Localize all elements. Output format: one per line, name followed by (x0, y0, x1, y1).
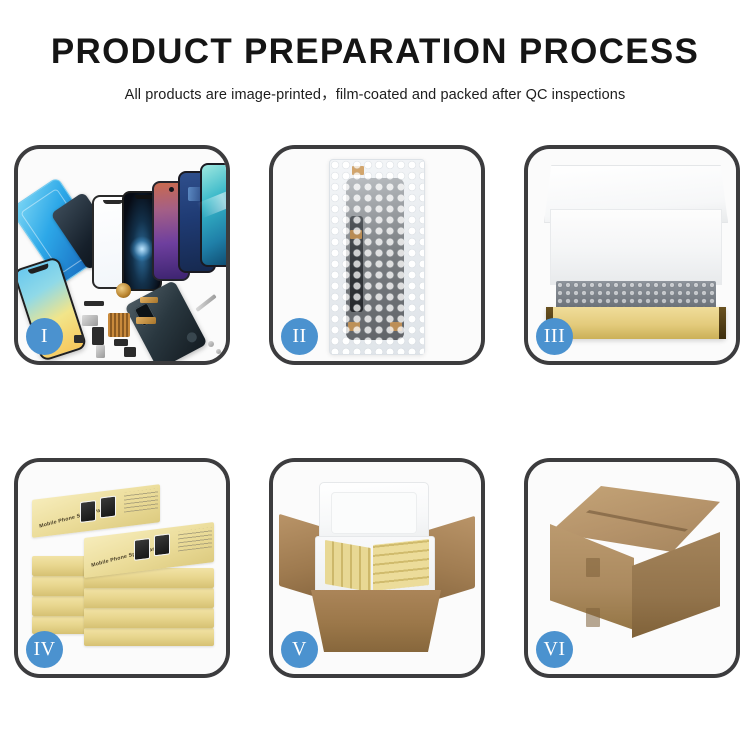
step-badge-4: IV (26, 631, 63, 668)
styrofoam-lid (319, 482, 429, 544)
part-logic-board (108, 313, 130, 337)
process-steps-grid: I II III (14, 145, 740, 678)
page-subtitle: All products are image-printed，film-coat… (0, 83, 750, 104)
tape-piece-top (352, 166, 364, 175)
yellow-box-base (546, 307, 726, 339)
step-card-5: V (269, 458, 485, 678)
tape-piece-lower-left (348, 322, 360, 331)
part-screw-1 (208, 341, 214, 347)
box-print-spec-lines-rear (124, 488, 158, 512)
step-card-4: Mobile Phone Spare Parts Mobile Phone Sp… (14, 458, 230, 678)
step-card-1: I (14, 145, 230, 365)
part-screw-2 (216, 349, 221, 354)
page-title: PRODUCT PREPARATION PROCESS (0, 34, 750, 71)
stacked-box-front-3 (84, 588, 214, 608)
part-speaker-coil (116, 283, 131, 298)
carton-tape-upper (586, 558, 600, 577)
part-screwdriver (195, 294, 216, 312)
stacked-box-front-1 (84, 628, 214, 646)
carton-tape-lower (586, 608, 600, 627)
box-print-label-rear: Mobile Phone Spare Parts (39, 506, 108, 530)
part-sim-tray (96, 345, 105, 358)
part-flex-cable-3 (136, 317, 156, 324)
step-badge-2: II (281, 318, 318, 355)
box-stack: Mobile Phone Spare Parts Mobile Phone Sp… (28, 484, 224, 660)
part-antenna-strip (84, 301, 104, 306)
box-print-phone-image-d (100, 496, 116, 519)
phone-teal-display (200, 163, 226, 267)
part-bracket-1 (82, 315, 98, 326)
step-badge-5: V (281, 631, 318, 668)
part-camera-module (114, 339, 128, 346)
box-print-phone-image-c (80, 500, 96, 523)
part-connector (74, 335, 84, 343)
step-badge-6: VI (536, 631, 573, 668)
stacked-box-front-2 (84, 608, 214, 628)
page-header: PRODUCT PREPARATION PROCESS All products… (0, 0, 750, 104)
step-badge-3: III (536, 318, 573, 355)
bubble-wrap-bag (329, 159, 425, 355)
white-foam-sheet (550, 209, 722, 285)
box-print-phone-image-b (154, 533, 170, 556)
step-badge-1: I (26, 318, 63, 355)
box-print-spec-lines-front (178, 527, 212, 551)
stacked-box-rear-top: Mobile Phone Spare Parts (32, 484, 160, 538)
box-print-phone-image-a (134, 538, 150, 561)
step-card-6: VI (524, 458, 740, 678)
part-flex-cable-1 (140, 297, 158, 303)
step-card-2: II (269, 145, 485, 365)
carton-body (311, 590, 441, 652)
step-card-3: III (524, 145, 740, 365)
tape-piece-lower-right (390, 322, 402, 331)
grey-bubble-padding (556, 281, 716, 309)
part-flex-cable-2 (92, 327, 104, 345)
part-vibrator (124, 347, 136, 357)
yellow-boxes-group-right (373, 539, 429, 591)
tape-piece-middle (350, 230, 362, 239)
yellow-boxes-group-left (325, 540, 371, 592)
